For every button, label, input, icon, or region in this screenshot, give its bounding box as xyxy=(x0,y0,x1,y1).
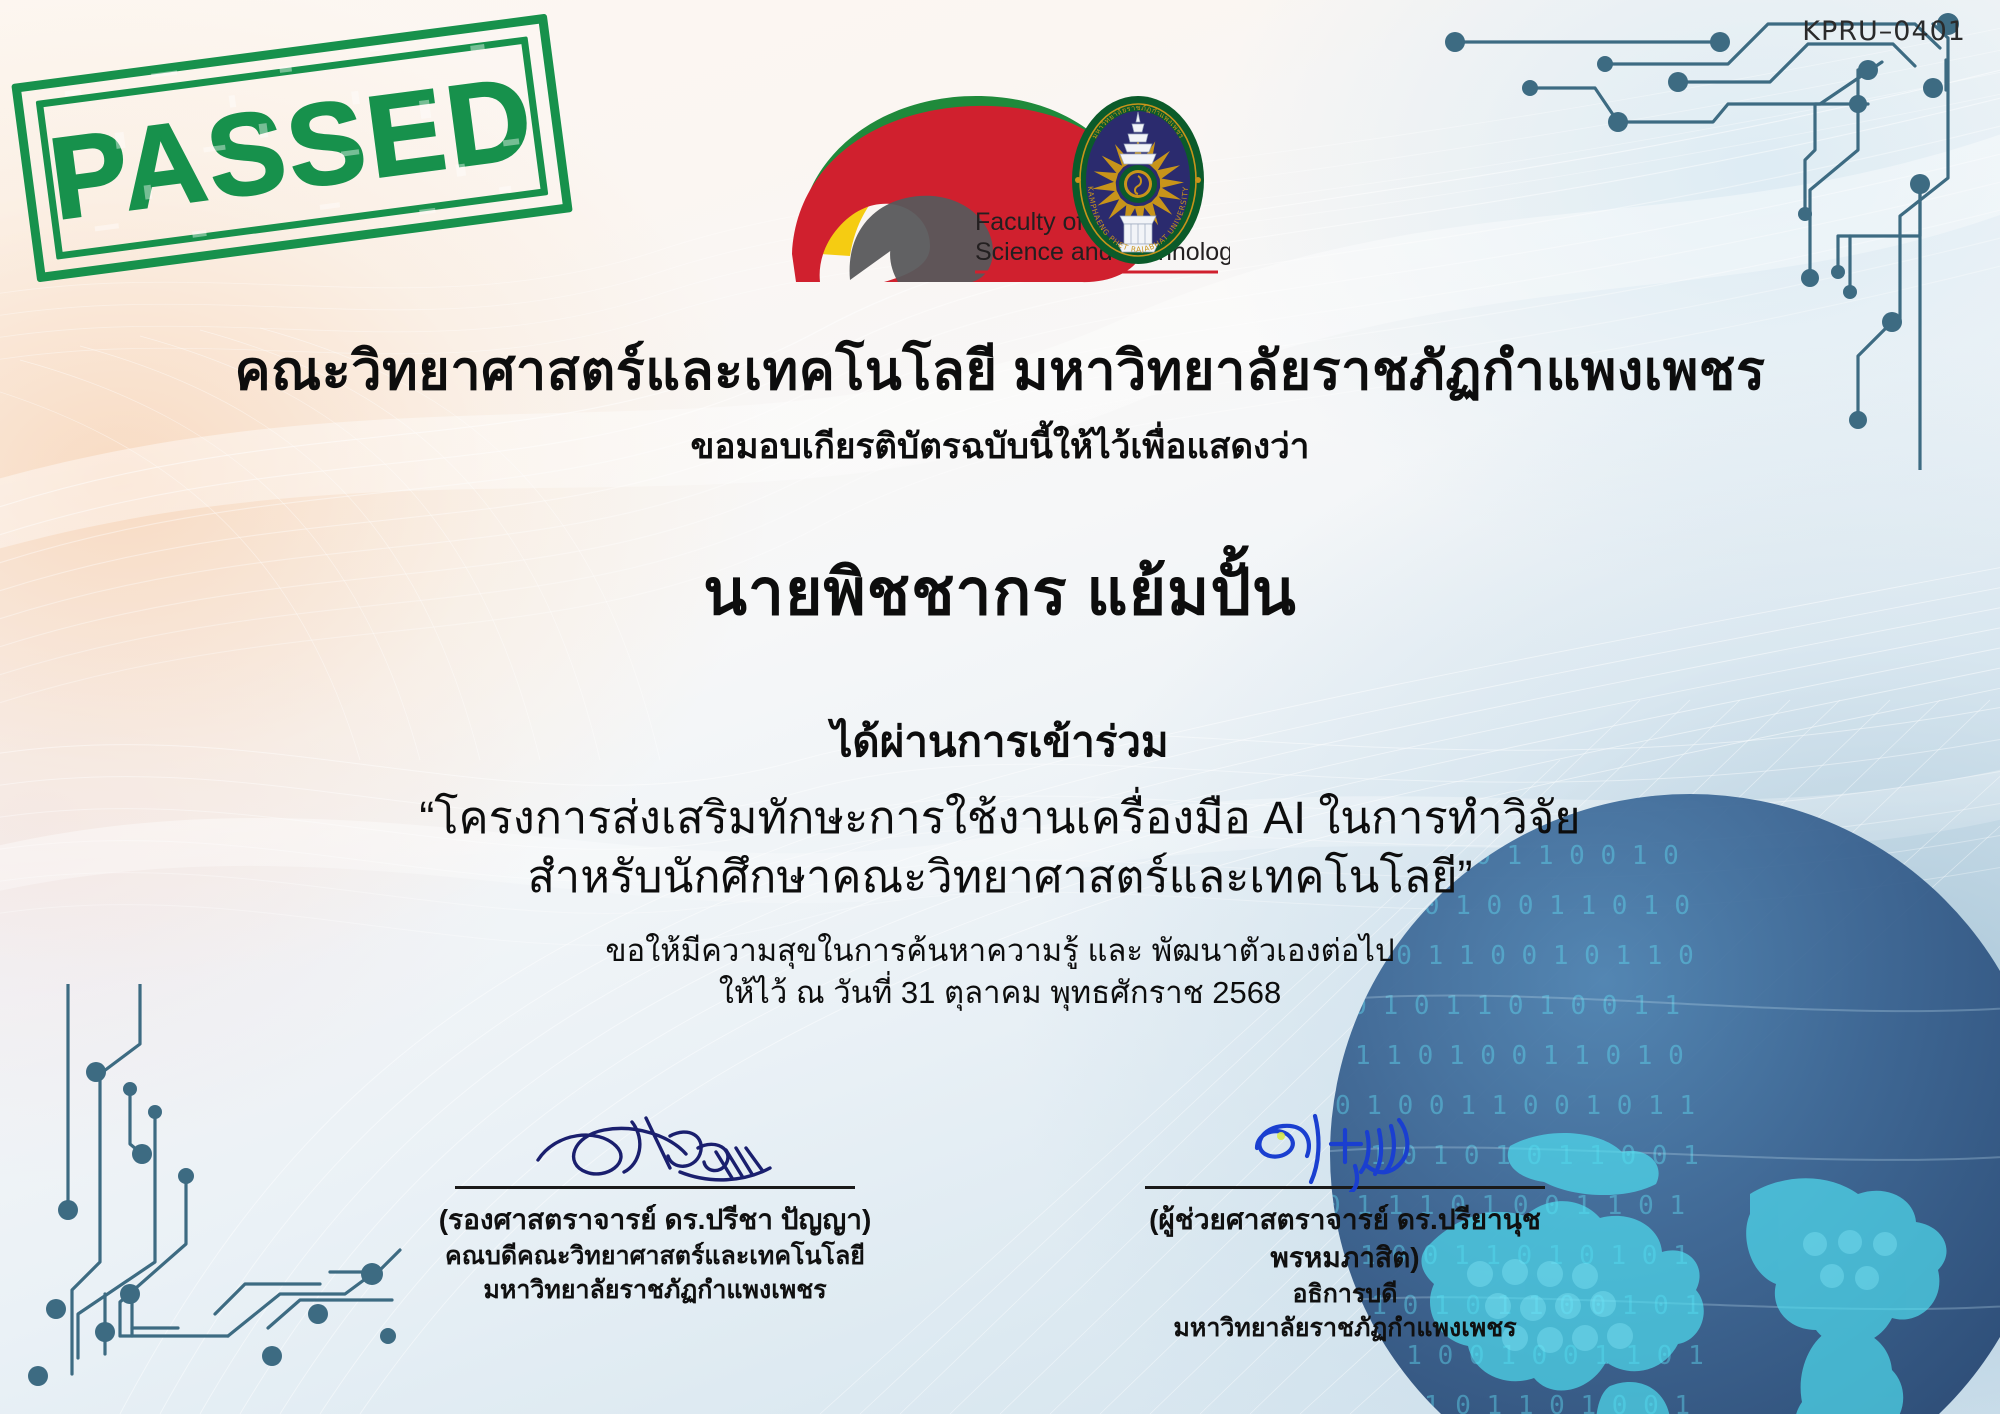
signature-row: (รองศาสตราจารย์ ดร.ปรีชา ปัญญา) คณบดีคณะ… xyxy=(0,1108,2000,1338)
award-subheading: ขอมอบเกียรติบัตรฉบับนี้ให้ไว้เพื่อแสดงว่… xyxy=(0,426,2000,467)
certificate-canvas: 1 0 0 1 0 1 1 0 0 1 0 0 1 1 0 1 0 0 1 1 … xyxy=(0,0,2000,1414)
dean-role: คณบดีคณะวิทยาศาสตร์และเทคโนโลยี xyxy=(420,1239,890,1274)
university-seal: มหาวิทยาลัยราชภัฏกำแพงเพชร KAMPHAENG PHE… xyxy=(1068,92,1208,268)
wish-text: ขอให้มีความสุขในการค้นหาความรู้ และ พัฒน… xyxy=(0,933,2000,970)
signature-block-dean: (รองศาสตราจารย์ ดร.ปรีชา ปัญญา) คณบดีคณะ… xyxy=(420,1108,890,1338)
institution-heading: คณะวิทยาศาสตร์และเทคโนโลยี มหาวิทยาลัยรา… xyxy=(0,340,2000,404)
president-signature-ink xyxy=(1110,1108,1580,1186)
faculty-logo-block: Faculty of Science and Technology xyxy=(780,78,1230,288)
dean-org: มหาวิทยาลัยราชภัฏกำแพงเพชร xyxy=(420,1273,890,1308)
stamp-grunge-texture xyxy=(11,14,572,283)
recipient-name: นายพิชชากร แย้มปั้น xyxy=(0,555,2000,631)
dean-name: (รองศาสตราจารย์ ดร.ปรีชา ปัญญา) xyxy=(420,1201,890,1239)
signature-block-president: (ผู้ช่วยศาสตราจารย์ ดร.ปรียานุช พรหมภาสิ… xyxy=(1110,1108,1580,1338)
certificate-body: คณะวิทยาศาสตร์และเทคโนโลยี มหาวิทยาลัยรา… xyxy=(0,340,2000,1012)
president-org: มหาวิทยาลัยราชภัฏกำแพงเพชร xyxy=(1110,1311,1580,1346)
achievement-text: ได้ผ่านการเข้าร่วม xyxy=(0,717,2000,767)
issue-date: ให้ไว้ ณ วันที่ 31 ตุลาคม พุทธศักราช 256… xyxy=(0,975,2000,1012)
dean-signature-ink xyxy=(420,1108,890,1186)
document-code: KPRU–0401 xyxy=(1802,16,1966,47)
svg-text:1 1 0 1 0 0 1 1 0 1 0: 1 1 0 1 0 0 1 1 0 1 0 xyxy=(1355,1041,1684,1071)
president-name: (ผู้ช่วยศาสตราจารย์ ดร.ปรียานุช พรหมภาสิ… xyxy=(1110,1201,1580,1277)
project-title-line1: “โครงการส่งเสริมทักษะการใช้งานเครื่องมือ… xyxy=(0,788,2000,847)
project-title-line2: สำหรับนักศึกษาคณะวิทยาศาสตร์และเทคโนโลยี… xyxy=(0,847,2000,906)
passed-stamp: PASSED xyxy=(11,14,572,283)
president-role: อธิการบดี xyxy=(1110,1277,1580,1312)
